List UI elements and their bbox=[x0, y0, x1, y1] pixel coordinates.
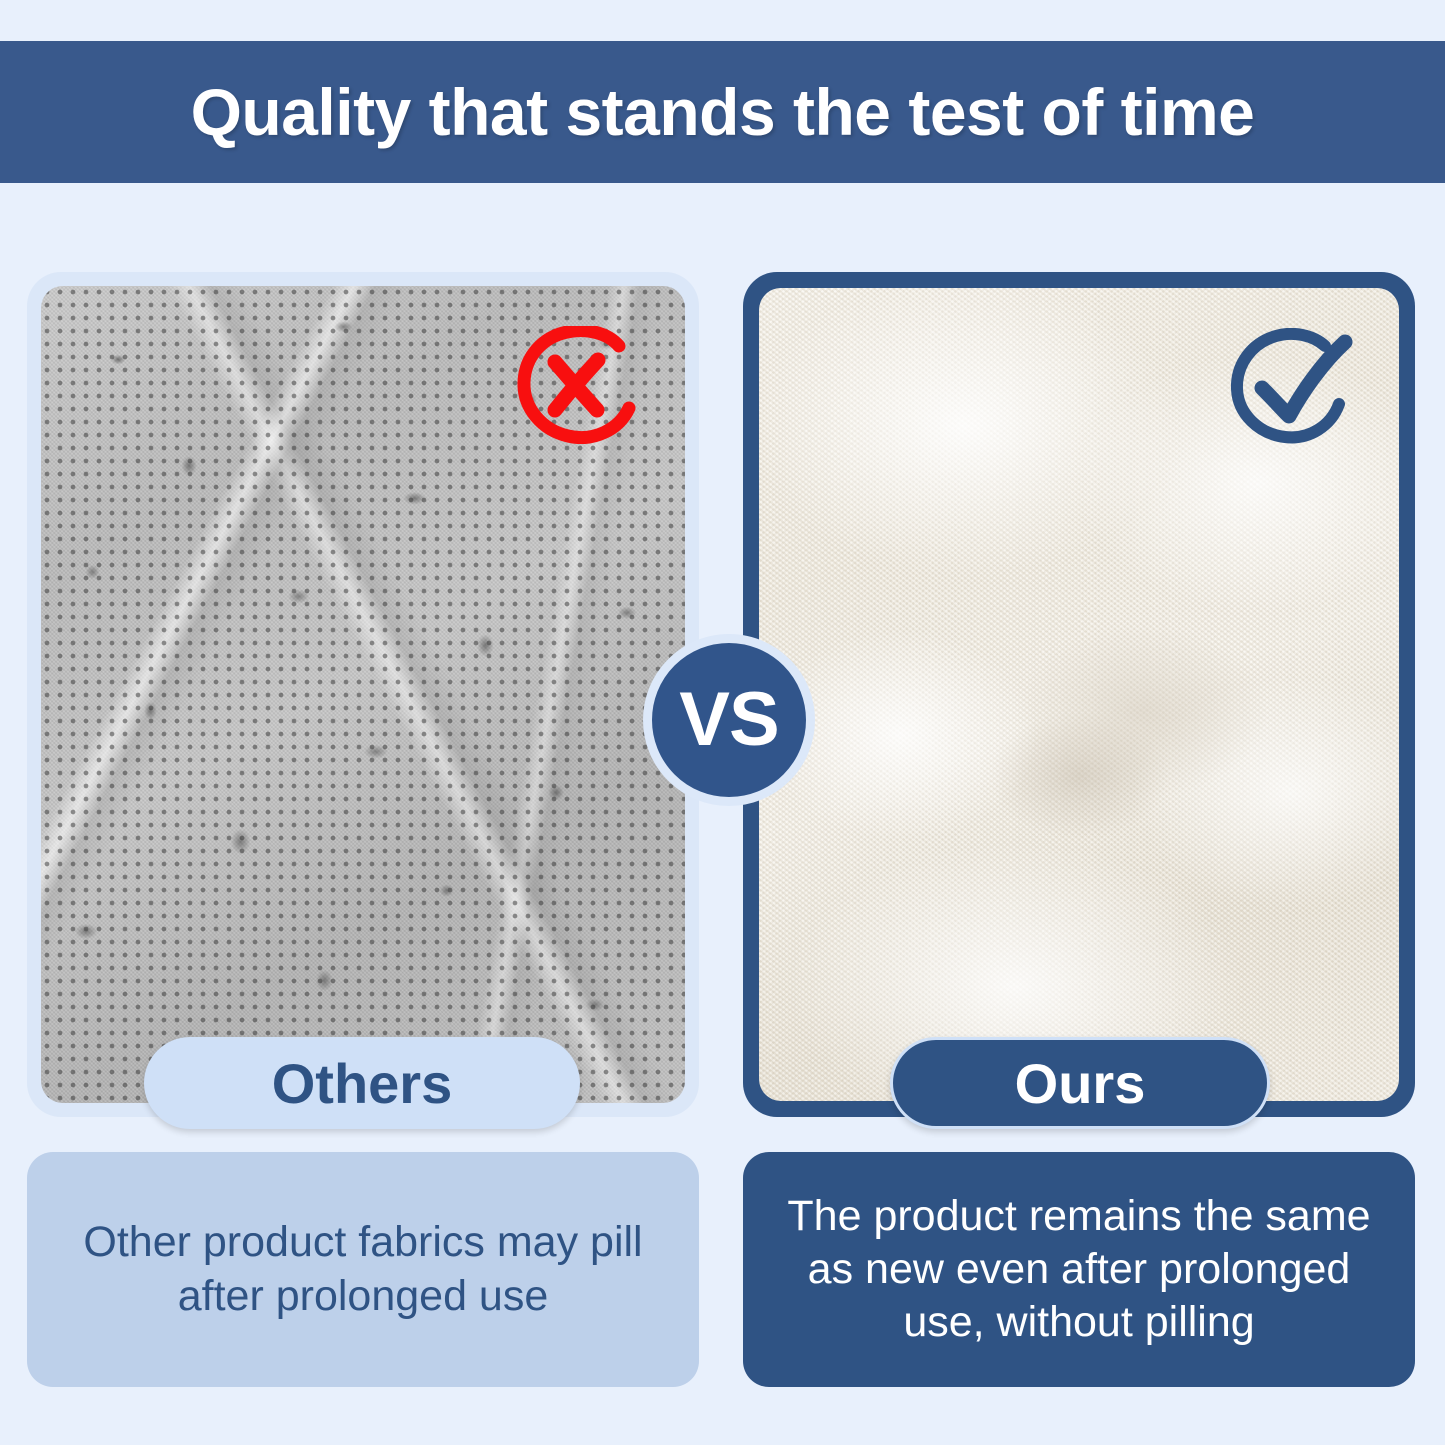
comparison-infographic: Quality that stands the test of time bbox=[0, 0, 1445, 1445]
label-pill-ours: Ours bbox=[890, 1037, 1270, 1129]
page-title: Quality that stands the test of time bbox=[191, 74, 1255, 150]
header-banner: Quality that stands the test of time bbox=[0, 41, 1445, 183]
check-mark-icon bbox=[1229, 328, 1357, 446]
vs-badge: VS bbox=[643, 634, 815, 806]
photo-ours bbox=[759, 288, 1399, 1101]
cross-mark-icon bbox=[515, 326, 643, 444]
caption-ours-text: The product remains the same as new even… bbox=[777, 1190, 1381, 1350]
photo-others bbox=[41, 286, 685, 1103]
label-ours-text: Ours bbox=[1015, 1051, 1146, 1116]
label-others-text: Others bbox=[272, 1051, 453, 1116]
caption-others-text: Other product fabrics may pill after pro… bbox=[61, 1216, 665, 1323]
panel-others bbox=[27, 272, 699, 1117]
label-pill-others: Others bbox=[144, 1037, 580, 1129]
panel-ours bbox=[743, 272, 1415, 1117]
caption-box-ours: The product remains the same as new even… bbox=[743, 1152, 1415, 1387]
caption-box-others: Other product fabrics may pill after pro… bbox=[27, 1152, 699, 1387]
vs-label: VS bbox=[679, 682, 778, 758]
